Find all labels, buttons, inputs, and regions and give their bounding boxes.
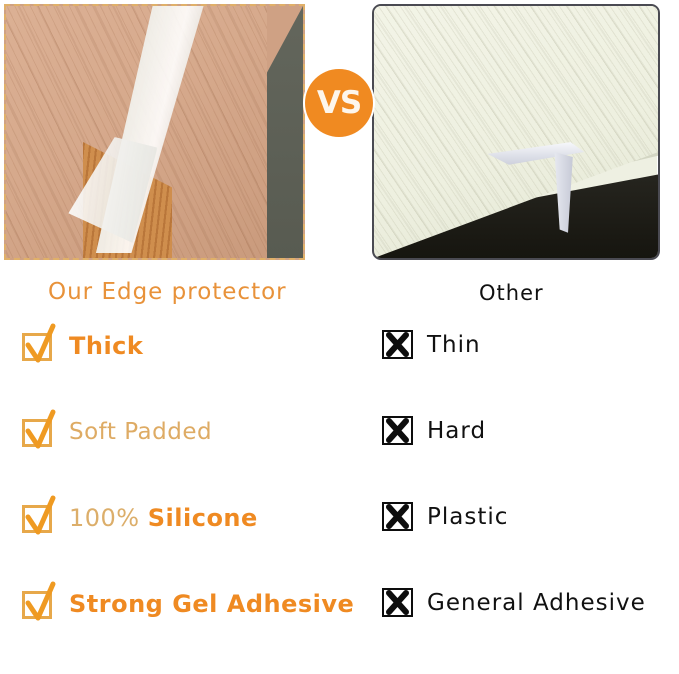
- cross-in-box-icon: [382, 416, 413, 445]
- our-product-photo: [4, 4, 305, 260]
- other-feature-item: Hard: [382, 416, 486, 445]
- other-feature-item: Plastic: [382, 502, 508, 531]
- check-in-box-icon: [22, 330, 55, 361]
- our-feature-label: 100% Silicone: [69, 504, 258, 532]
- our-feature-label: Soft Padded: [69, 419, 212, 445]
- photo-row: VS: [0, 0, 679, 268]
- other-product-photo-scene: [374, 6, 658, 258]
- our-feature-item: Soft Padded: [22, 416, 212, 447]
- comparison-infographic: VS Our Edge protector Other: [0, 0, 679, 649]
- checkmark-glyph: [21, 495, 61, 539]
- other-feature-label: Thin: [427, 332, 481, 358]
- vs-badge: VS: [305, 69, 373, 137]
- cross-glyph: [382, 416, 413, 445]
- cross-in-box-icon: [382, 588, 413, 617]
- our-feature-label-main: Silicone: [148, 504, 258, 532]
- our-feature-item: Strong Gel Adhesive: [22, 588, 354, 619]
- checkmark-glyph: [21, 323, 61, 367]
- checkmark-glyph: [21, 581, 61, 625]
- comparison-rows: Thick Thin S: [0, 330, 679, 674]
- cross-in-box-icon: [382, 502, 413, 531]
- our-feature-label-prefix: 100%: [69, 504, 148, 532]
- checkmark-glyph: [21, 409, 61, 453]
- comparison-row: 100% Silicone Plastic: [0, 502, 679, 588]
- other-column-header: Other: [479, 281, 544, 305]
- cross-in-box-icon: [382, 330, 413, 359]
- other-feature-label: Hard: [427, 418, 486, 444]
- our-feature-item: 100% Silicone: [22, 502, 258, 533]
- other-feature-item: Thin: [382, 330, 481, 359]
- our-column-header: Our Edge protector: [48, 279, 287, 305]
- cross-glyph: [382, 330, 413, 359]
- our-product-photo-scene: [6, 6, 303, 258]
- our-feature-label: Thick: [69, 332, 143, 360]
- other-feature-label: Plastic: [427, 504, 508, 530]
- other-feature-item: General Adhesive: [382, 588, 646, 617]
- check-in-box-icon: [22, 416, 55, 447]
- our-feature-label: Strong Gel Adhesive: [69, 590, 354, 618]
- cross-glyph: [382, 588, 413, 617]
- comparison-row: Thick Thin: [0, 330, 679, 416]
- comparison-row: Soft Padded Hard: [0, 416, 679, 502]
- cross-glyph: [382, 502, 413, 531]
- other-feature-label: General Adhesive: [427, 590, 646, 616]
- our-feature-item: Thick: [22, 330, 143, 361]
- other-product-photo: [372, 4, 660, 260]
- check-in-box-icon: [22, 502, 55, 533]
- comparison-row: Strong Gel Adhesive General Adhesive: [0, 588, 679, 674]
- check-in-box-icon: [22, 588, 55, 619]
- vs-badge-label: VS: [317, 88, 361, 119]
